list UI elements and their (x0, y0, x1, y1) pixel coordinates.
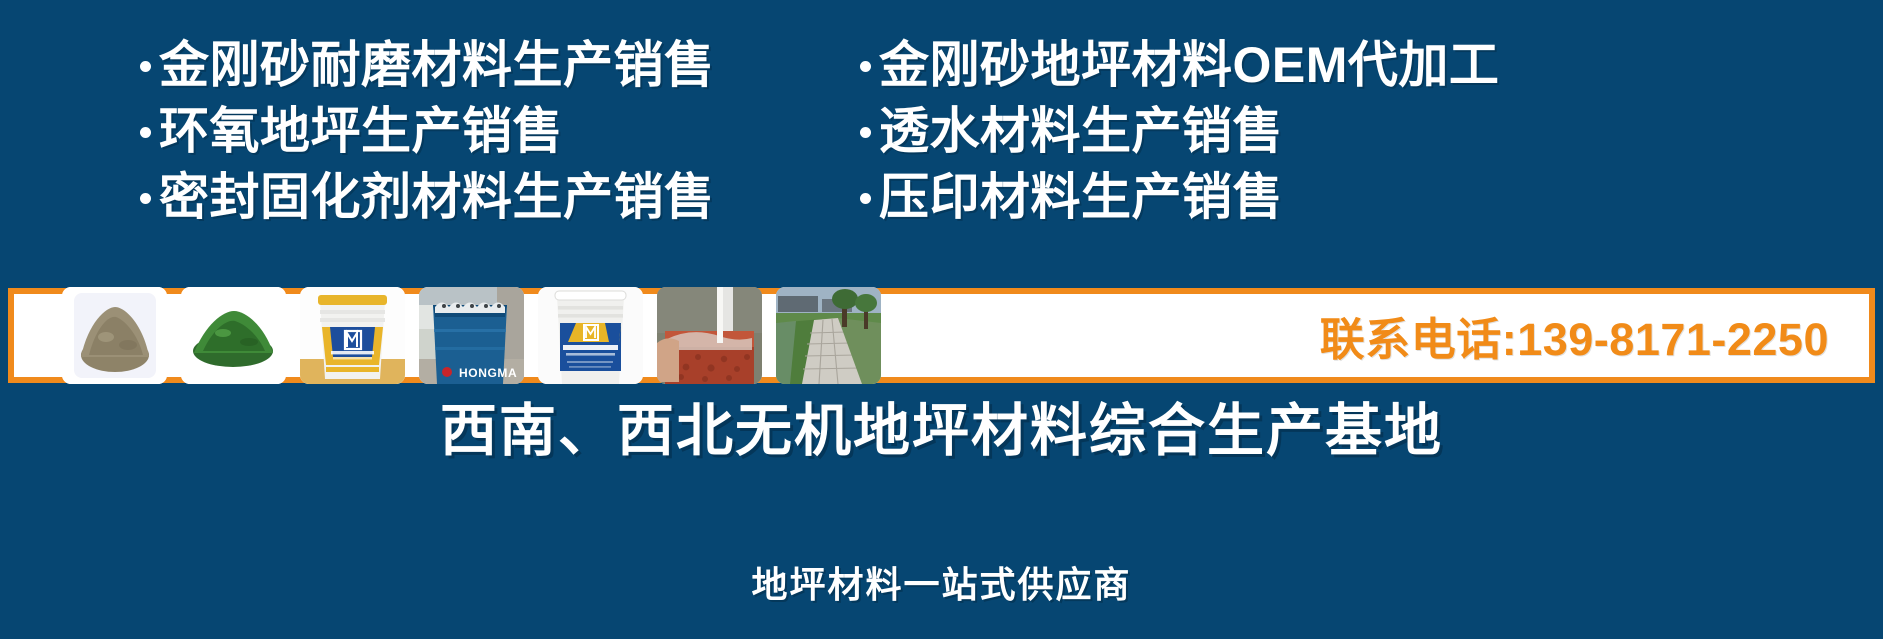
services-column-right: 金刚砂地坪材料OEM代加工 透水材料生产销售 压印材料生产销售 (860, 34, 1620, 228)
promo-banner: 金刚砂耐磨材料生产销售 环氧地坪生产销售 密封固化剂材料生产销售 金刚砂地坪材料… (0, 0, 1883, 639)
bullet-dot-icon (860, 127, 871, 138)
service-item: 金刚砂地坪材料OEM代加工 (860, 34, 1620, 96)
service-label: 密封固化剂材料生产销售 (159, 172, 715, 222)
service-label: 金刚砂地坪材料OEM代加工 (879, 40, 1499, 90)
product-panel: HONGMA (8, 288, 1875, 383)
service-label: 金刚砂耐磨材料生产销售 (159, 40, 715, 90)
bullet-dot-icon (860, 61, 871, 72)
contact-phone[interactable]: 联系电话:139-8171-2250 (1320, 303, 1829, 368)
service-item: 金刚砂耐磨材料生产销售 (140, 34, 860, 96)
service-label: 透水材料生产销售 (879, 106, 1283, 156)
footer-tagline: 地坪材料一站式供应商 (0, 556, 1883, 608)
services-section: 金刚砂耐磨材料生产销售 环氧地坪生产销售 密封固化剂材料生产销售 金刚砂地坪材料… (0, 34, 1883, 234)
bullet-dot-icon (140, 61, 151, 72)
product-thumb-hongma-drum-icon: HONGMA (419, 287, 524, 384)
product-thumb-gray-powder-icon (62, 287, 167, 384)
service-item: 透水材料生产销售 (860, 100, 1620, 162)
bullet-dot-icon (860, 193, 871, 204)
bullet-dot-icon (140, 127, 151, 138)
svg-text:HONGMA: HONGMA (459, 366, 517, 380)
service-item: 密封固化剂材料生产销售 (140, 166, 860, 228)
product-thumb-epoxy-bucket-icon (538, 287, 643, 384)
service-label: 压印材料生产销售 (879, 172, 1283, 222)
product-thumbnail-list: HONGMA (62, 294, 881, 377)
footer-headline: 西南、西北无机地坪材料综合生产基地 (0, 385, 1883, 467)
services-column-left: 金刚砂耐磨材料生产销售 环氧地坪生产销售 密封固化剂材料生产销售 (140, 34, 860, 228)
product-thumb-sealer-bucket-icon (300, 287, 405, 384)
service-label: 环氧地坪生产销售 (159, 106, 563, 156)
product-thumb-permeable-sample-icon (657, 287, 762, 384)
product-thumb-stamped-path-icon (776, 287, 881, 384)
product-thumb-green-powder-icon (181, 287, 286, 384)
service-item: 压印材料生产销售 (860, 166, 1620, 228)
service-item: 环氧地坪生产销售 (140, 100, 860, 162)
bullet-dot-icon (140, 193, 151, 204)
